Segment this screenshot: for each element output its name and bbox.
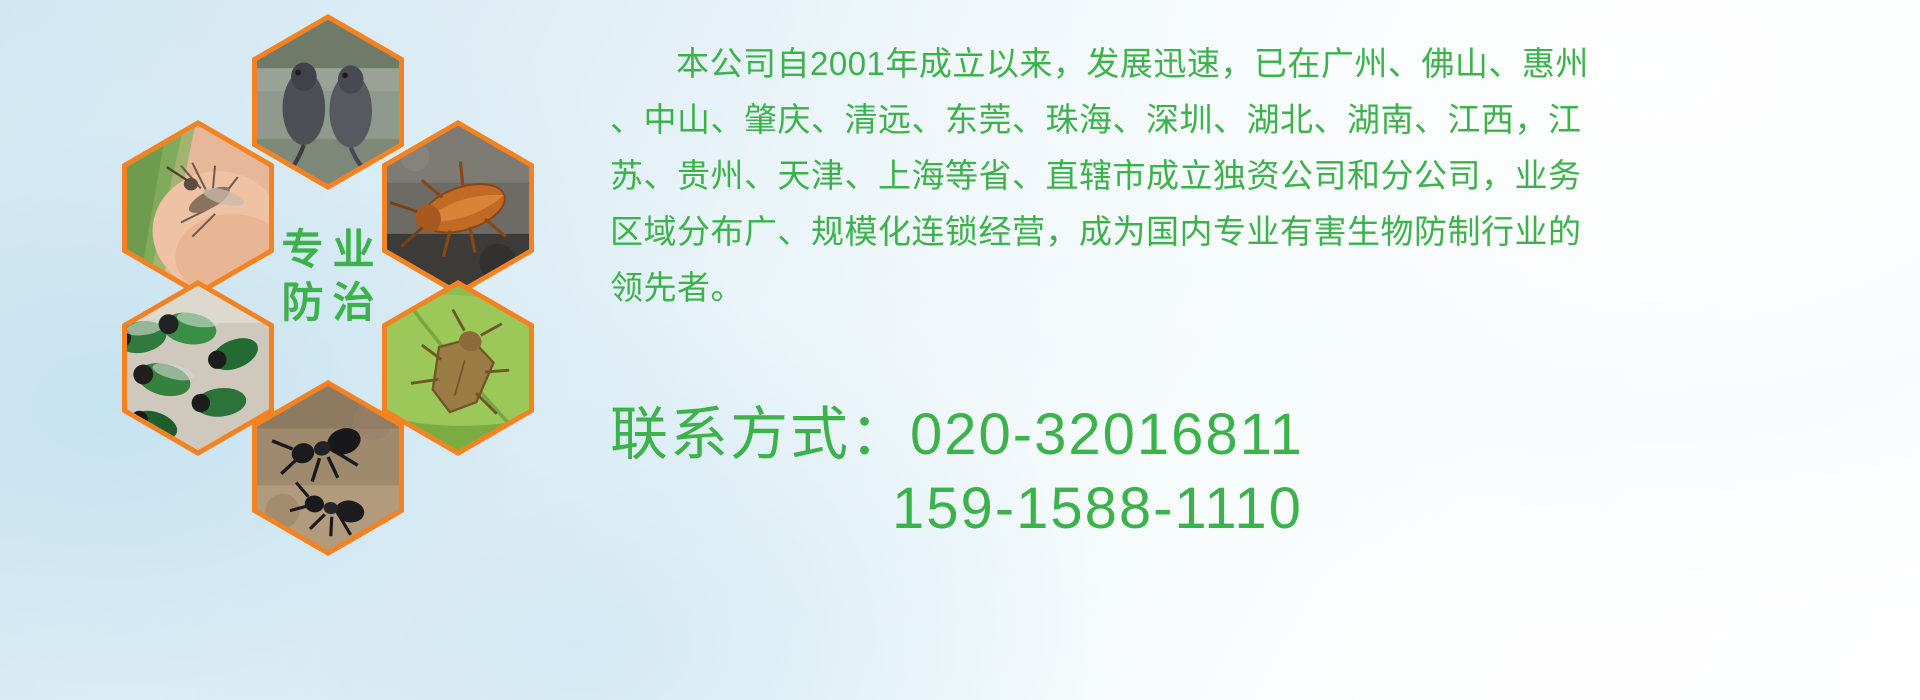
intro-line-5: 领先者。	[610, 260, 1890, 316]
hex-cell-rodent	[252, 14, 404, 190]
hex-cell-fly-image	[127, 286, 269, 451]
hex-center-label: 专业 防治	[252, 188, 404, 364]
intro-line-3: 苏、贵州、天津、上海等省、直辖市成立独资公司和分公司，业务	[610, 148, 1890, 204]
intro-paragraph: 本公司自2001年成立以来，发展迅速，已在广州、佛山、惠州 、中山、肇庆、清远、…	[610, 36, 1890, 316]
hex-cell-ant	[252, 380, 404, 556]
intro-line-2: 、中山、肇庆、清远、东莞、珠海、深圳、湖北、湖南、江西，江	[610, 92, 1890, 148]
promo-banner: 专业 防治 本公司自2001年成立以来，发展迅速，已在广州、佛山、惠州 、中山、…	[0, 0, 1920, 700]
hexagon-image-cluster: 专业 防治	[88, 8, 608, 568]
hex-cell-cockroach	[382, 120, 534, 296]
intro-line-4: 区域分布广、规模化连锁经营，成为国内专业有害生物防制行业的	[610, 204, 1890, 260]
hex-cell-stink-bug	[382, 280, 534, 456]
hex-cell-mosquito-image	[127, 126, 269, 291]
hex-center-line-2: 防治	[272, 280, 383, 325]
intro-line-1: 本公司自2001年成立以来，发展迅速，已在广州、佛山、惠州	[610, 36, 1890, 92]
hex-cell-cockroach-image	[387, 126, 529, 291]
contact-phone-primary[interactable]: 联系方式：020-32016811	[610, 398, 1900, 472]
hex-cell-stink-bug-image	[387, 286, 529, 451]
hex-center-line-1: 专业	[272, 227, 383, 272]
hex-cell-ant-image	[257, 386, 399, 551]
hex-cell-rodent-image	[257, 20, 399, 185]
intro-copy-block: 本公司自2001年成立以来，发展迅速，已在广州、佛山、惠州 、中山、肇庆、清远、…	[610, 36, 1890, 316]
contact-phone-secondary[interactable]: 159-1588-1110	[610, 472, 1900, 546]
contact-block: 联系方式：020-32016811 159-1588-1110	[610, 398, 1900, 546]
